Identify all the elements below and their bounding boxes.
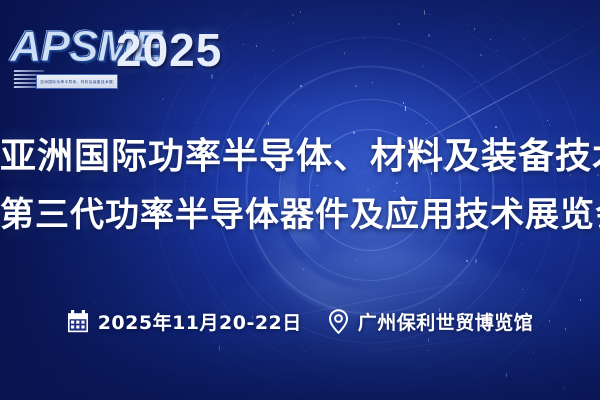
particle: [474, 81, 475, 82]
particle: [266, 21, 267, 22]
particle: [137, 100, 138, 101]
particle: [355, 85, 357, 87]
particle: [364, 38, 365, 39]
particle: [549, 125, 550, 126]
particle: [146, 266, 147, 267]
particle: [372, 82, 373, 83]
particle: [475, 259, 477, 263]
particle: [428, 34, 430, 37]
particle: [522, 289, 523, 290]
particle: [255, 77, 256, 78]
particle: [303, 348, 304, 349]
particle: [268, 122, 269, 125]
particle: [426, 123, 427, 124]
title-line-1: 亚洲国际功率半导体、材料及装备技术展览会: [0, 128, 600, 186]
particle: [272, 50, 273, 51]
particle: [405, 106, 406, 111]
particle: [521, 244, 522, 245]
event-banner: APSME 亚洲国际功率半导体、材料及装备技术展览会 2025 亚洲国际功率半导…: [0, 0, 600, 400]
particle: [256, 45, 257, 47]
particle: [424, 10, 425, 15]
event-date-item: 2025年11月20-22日: [67, 308, 302, 335]
particle: [506, 373, 507, 377]
particle: [403, 102, 404, 104]
particle: [533, 352, 534, 353]
particle: [524, 38, 525, 39]
particle: [94, 302, 95, 303]
particle: [505, 375, 506, 376]
particle: [398, 23, 400, 25]
logo-subtitle-bar: 亚洲国际功率半导体、材料及装备技术展览会: [36, 74, 118, 89]
particle: [356, 259, 357, 260]
particle: [292, 14, 294, 16]
event-info-row: 2025年11月20-22日 广州保利世贸博览馆: [0, 308, 600, 335]
calendar-icon: [67, 310, 89, 333]
particle: [305, 351, 306, 352]
headline-block: 亚洲国际功率半导体、材料及装备技术展览会 第三代功率半导体器件及应用技术展览会: [0, 128, 600, 244]
particle: [245, 14, 246, 15]
particle: [563, 387, 565, 390]
event-venue-item: 广州保利世贸博览馆: [328, 308, 534, 335]
particle: [474, 28, 475, 30]
particle: [423, 65, 424, 67]
particle: [480, 54, 482, 56]
particle: [294, 105, 295, 106]
particle: [300, 85, 302, 87]
logo-subtitle-text: 亚洲国际功率半导体、材料及装备技术展览会: [40, 76, 114, 88]
particle: [497, 50, 498, 51]
event-venue-text: 广州保利世贸博览馆: [358, 308, 534, 335]
apsme-logo: APSME 亚洲国际功率半导体、材料及装备技术展览会 2025: [8, 22, 198, 100]
logo-year: 2025: [116, 24, 222, 76]
particle: [467, 24, 468, 25]
particle: [490, 39, 491, 40]
particle: [466, 260, 468, 262]
location-pin-icon: [328, 309, 349, 334]
title-line-2: 第三代功率半导体器件及应用技术展览会: [0, 186, 600, 244]
particle: [293, 23, 294, 24]
particle: [547, 120, 548, 121]
streak-2: [433, 12, 600, 113]
particle: [580, 299, 581, 301]
particle: [344, 52, 345, 55]
particle: [427, 350, 428, 351]
particle: [428, 338, 429, 342]
particle: [303, 269, 304, 270]
event-date-text: 2025年11月20-22日: [98, 308, 302, 335]
particle: [300, 11, 301, 13]
particle: [243, 44, 244, 45]
particle: [219, 346, 220, 351]
particle: [470, 100, 471, 101]
